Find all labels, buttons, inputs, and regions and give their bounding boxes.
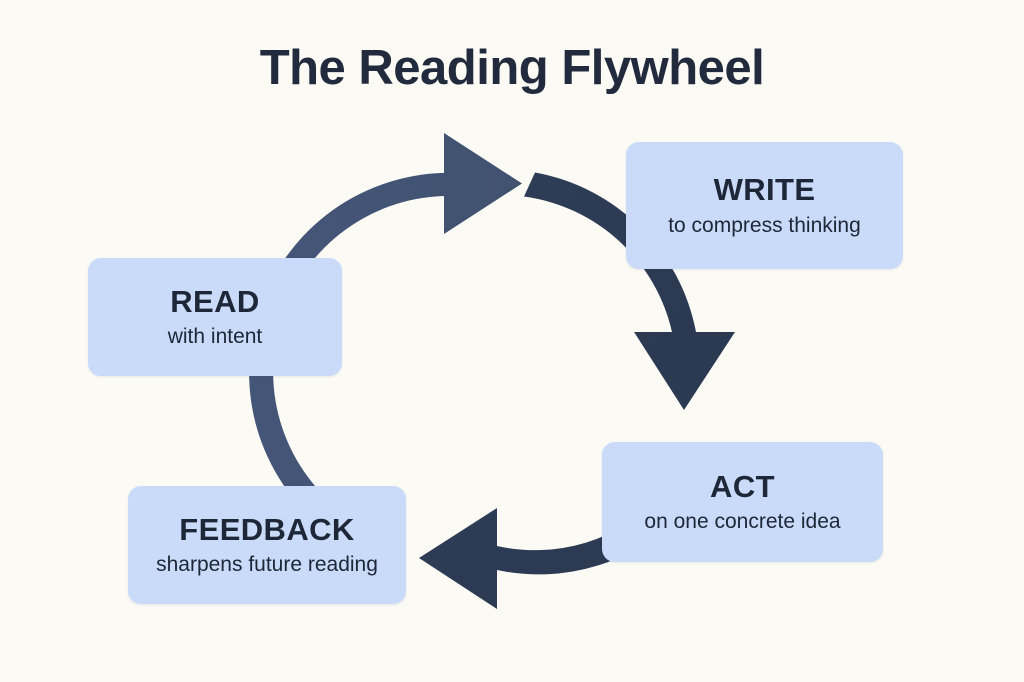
node-act[interactable]: ACT on one concrete idea [602,442,883,562]
node-write-title: WRITE [714,173,816,208]
node-read-subtitle: with intent [168,324,263,349]
node-feedback-title: FEEDBACK [179,513,354,548]
node-feedback[interactable]: FEEDBACK sharpens future reading [128,486,406,604]
node-read[interactable]: READ with intent [88,258,342,376]
node-feedback-subtitle: sharpens future reading [156,552,378,577]
node-write-subtitle: to compress thinking [668,213,861,238]
diagram-canvas: The Reading Flywheel READ w [0,0,1024,682]
node-act-subtitle: on one concrete idea [644,509,840,534]
node-write[interactable]: WRITE to compress thinking [626,142,903,269]
node-read-title: READ [170,285,259,320]
node-act-title: ACT [710,470,775,505]
